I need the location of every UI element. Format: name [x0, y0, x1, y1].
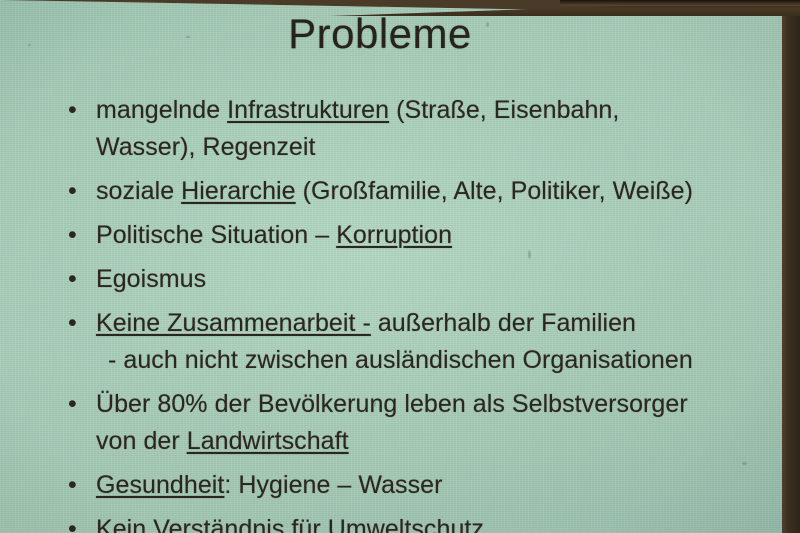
plain-text: Wasser), Regenzeit [96, 133, 316, 161]
plain-text: Egoismus [96, 265, 206, 293]
plain-text: - auch nicht zwischen ausländischen Orga… [108, 346, 693, 374]
plain-text: (Großfamilie, Alte, Politiker, Weiße) [296, 177, 693, 205]
slide-title: Probleme [0, 10, 760, 58]
plain-text: : Hygiene – Wasser [224, 471, 442, 499]
bullet-item-gesundheit: •Gesundheit: Hygiene – Wasser [62, 467, 762, 504]
emphasised-term: Korruption [336, 221, 452, 249]
bullet-line: soziale Hierarchie (Großfamilie, Alte, P… [96, 173, 762, 210]
bullet-item-hierarchie: •soziale Hierarchie (Großfamilie, Alte, … [62, 173, 762, 210]
plain-text: außerhalb der Familien [371, 309, 636, 337]
bullet-text: Keine Zusammenarbeit - außerhalb der Fam… [96, 305, 762, 379]
bullet-line: - auch nicht zwischen ausländischen Orga… [96, 342, 762, 379]
bullet-item-landwirtschaft: •Über 80% der Bevölkerung leben als Selb… [62, 386, 762, 460]
bullet-marker-icon: • [62, 386, 96, 422]
bullet-line: Egoismus [96, 261, 762, 298]
emphasised-term: Infrastrukturen [227, 96, 389, 124]
bullet-text: soziale Hierarchie (Großfamilie, Alte, P… [96, 173, 762, 210]
bullet-line: Kein Verständnis für Umweltschutz [96, 511, 762, 533]
bullet-text: Über 80% der Bevölkerung leben als Selbs… [96, 386, 762, 460]
bullet-item-egoismus: •Egoismus [62, 261, 762, 298]
bullet-marker-icon: • [62, 173, 96, 209]
emphasised-term: Hierarchie [181, 177, 295, 205]
bullet-item-korruption: •Politische Situation – Korruption [62, 217, 762, 254]
bullet-item-umweltschutz: •Kein Verständnis für Umweltschutz [62, 511, 762, 533]
projected-slide-photo: Probleme •mangelnde Infrastrukturen (Str… [0, 0, 800, 533]
screen-frame-right [782, 0, 800, 533]
bullet-line: Politische Situation – Korruption [96, 217, 762, 254]
emphasised-term: Landwirtschaft [187, 427, 349, 455]
plain-text: (Straße, Eisenbahn, [389, 96, 619, 124]
plain-text: von der [96, 427, 187, 455]
plain-text: Politische Situation – [96, 221, 336, 249]
slide-content: Probleme •mangelnde Infrastrukturen (Str… [0, 0, 784, 533]
bullet-marker-icon: • [62, 217, 96, 253]
bullet-marker-icon: • [62, 467, 96, 503]
bullet-line: von der Landwirtschaft [96, 423, 762, 460]
plain-text: Über 80% der Bevölkerung leben als Selbs… [96, 390, 688, 418]
bullet-list: •mangelnde Infrastrukturen (Straße, Eise… [62, 92, 762, 533]
bullet-line: mangelnde Infrastrukturen (Straße, Eisen… [96, 92, 762, 129]
plain-text: Kein Verständnis für [96, 515, 328, 533]
bullet-marker-icon: • [62, 511, 96, 533]
bullet-marker-icon: • [62, 261, 96, 297]
bullet-text: mangelnde Infrastrukturen (Straße, Eisen… [96, 92, 762, 166]
emphasised-term: Umweltschutz [328, 515, 484, 533]
bullet-marker-icon: • [62, 305, 96, 341]
bullet-item-zusammenarbeit: •Keine Zusammenarbeit - außerhalb der Fa… [62, 305, 762, 379]
screen-mount-rail [560, 0, 800, 6]
bullet-line: Gesundheit: Hygiene – Wasser [96, 467, 762, 504]
bullet-line: Keine Zusammenarbeit - außerhalb der Fam… [96, 305, 762, 342]
bullet-line: Über 80% der Bevölkerung leben als Selbs… [96, 386, 762, 423]
bullet-text: Politische Situation – Korruption [96, 217, 762, 254]
bullet-text: Egoismus [96, 261, 762, 298]
bullet-text: Gesundheit: Hygiene – Wasser [96, 467, 762, 504]
emphasised-term: Keine Zusammenarbeit - [96, 309, 371, 337]
bullet-item-infrastrukturen: •mangelnde Infrastrukturen (Straße, Eise… [62, 92, 762, 166]
plain-text: soziale [96, 177, 181, 205]
bullet-text: Kein Verständnis für Umweltschutz [96, 511, 762, 533]
bullet-marker-icon: • [62, 92, 96, 128]
plain-text: mangelnde [96, 96, 227, 124]
emphasised-term: Gesundheit [96, 471, 224, 499]
bullet-line: Wasser), Regenzeit [96, 129, 762, 166]
